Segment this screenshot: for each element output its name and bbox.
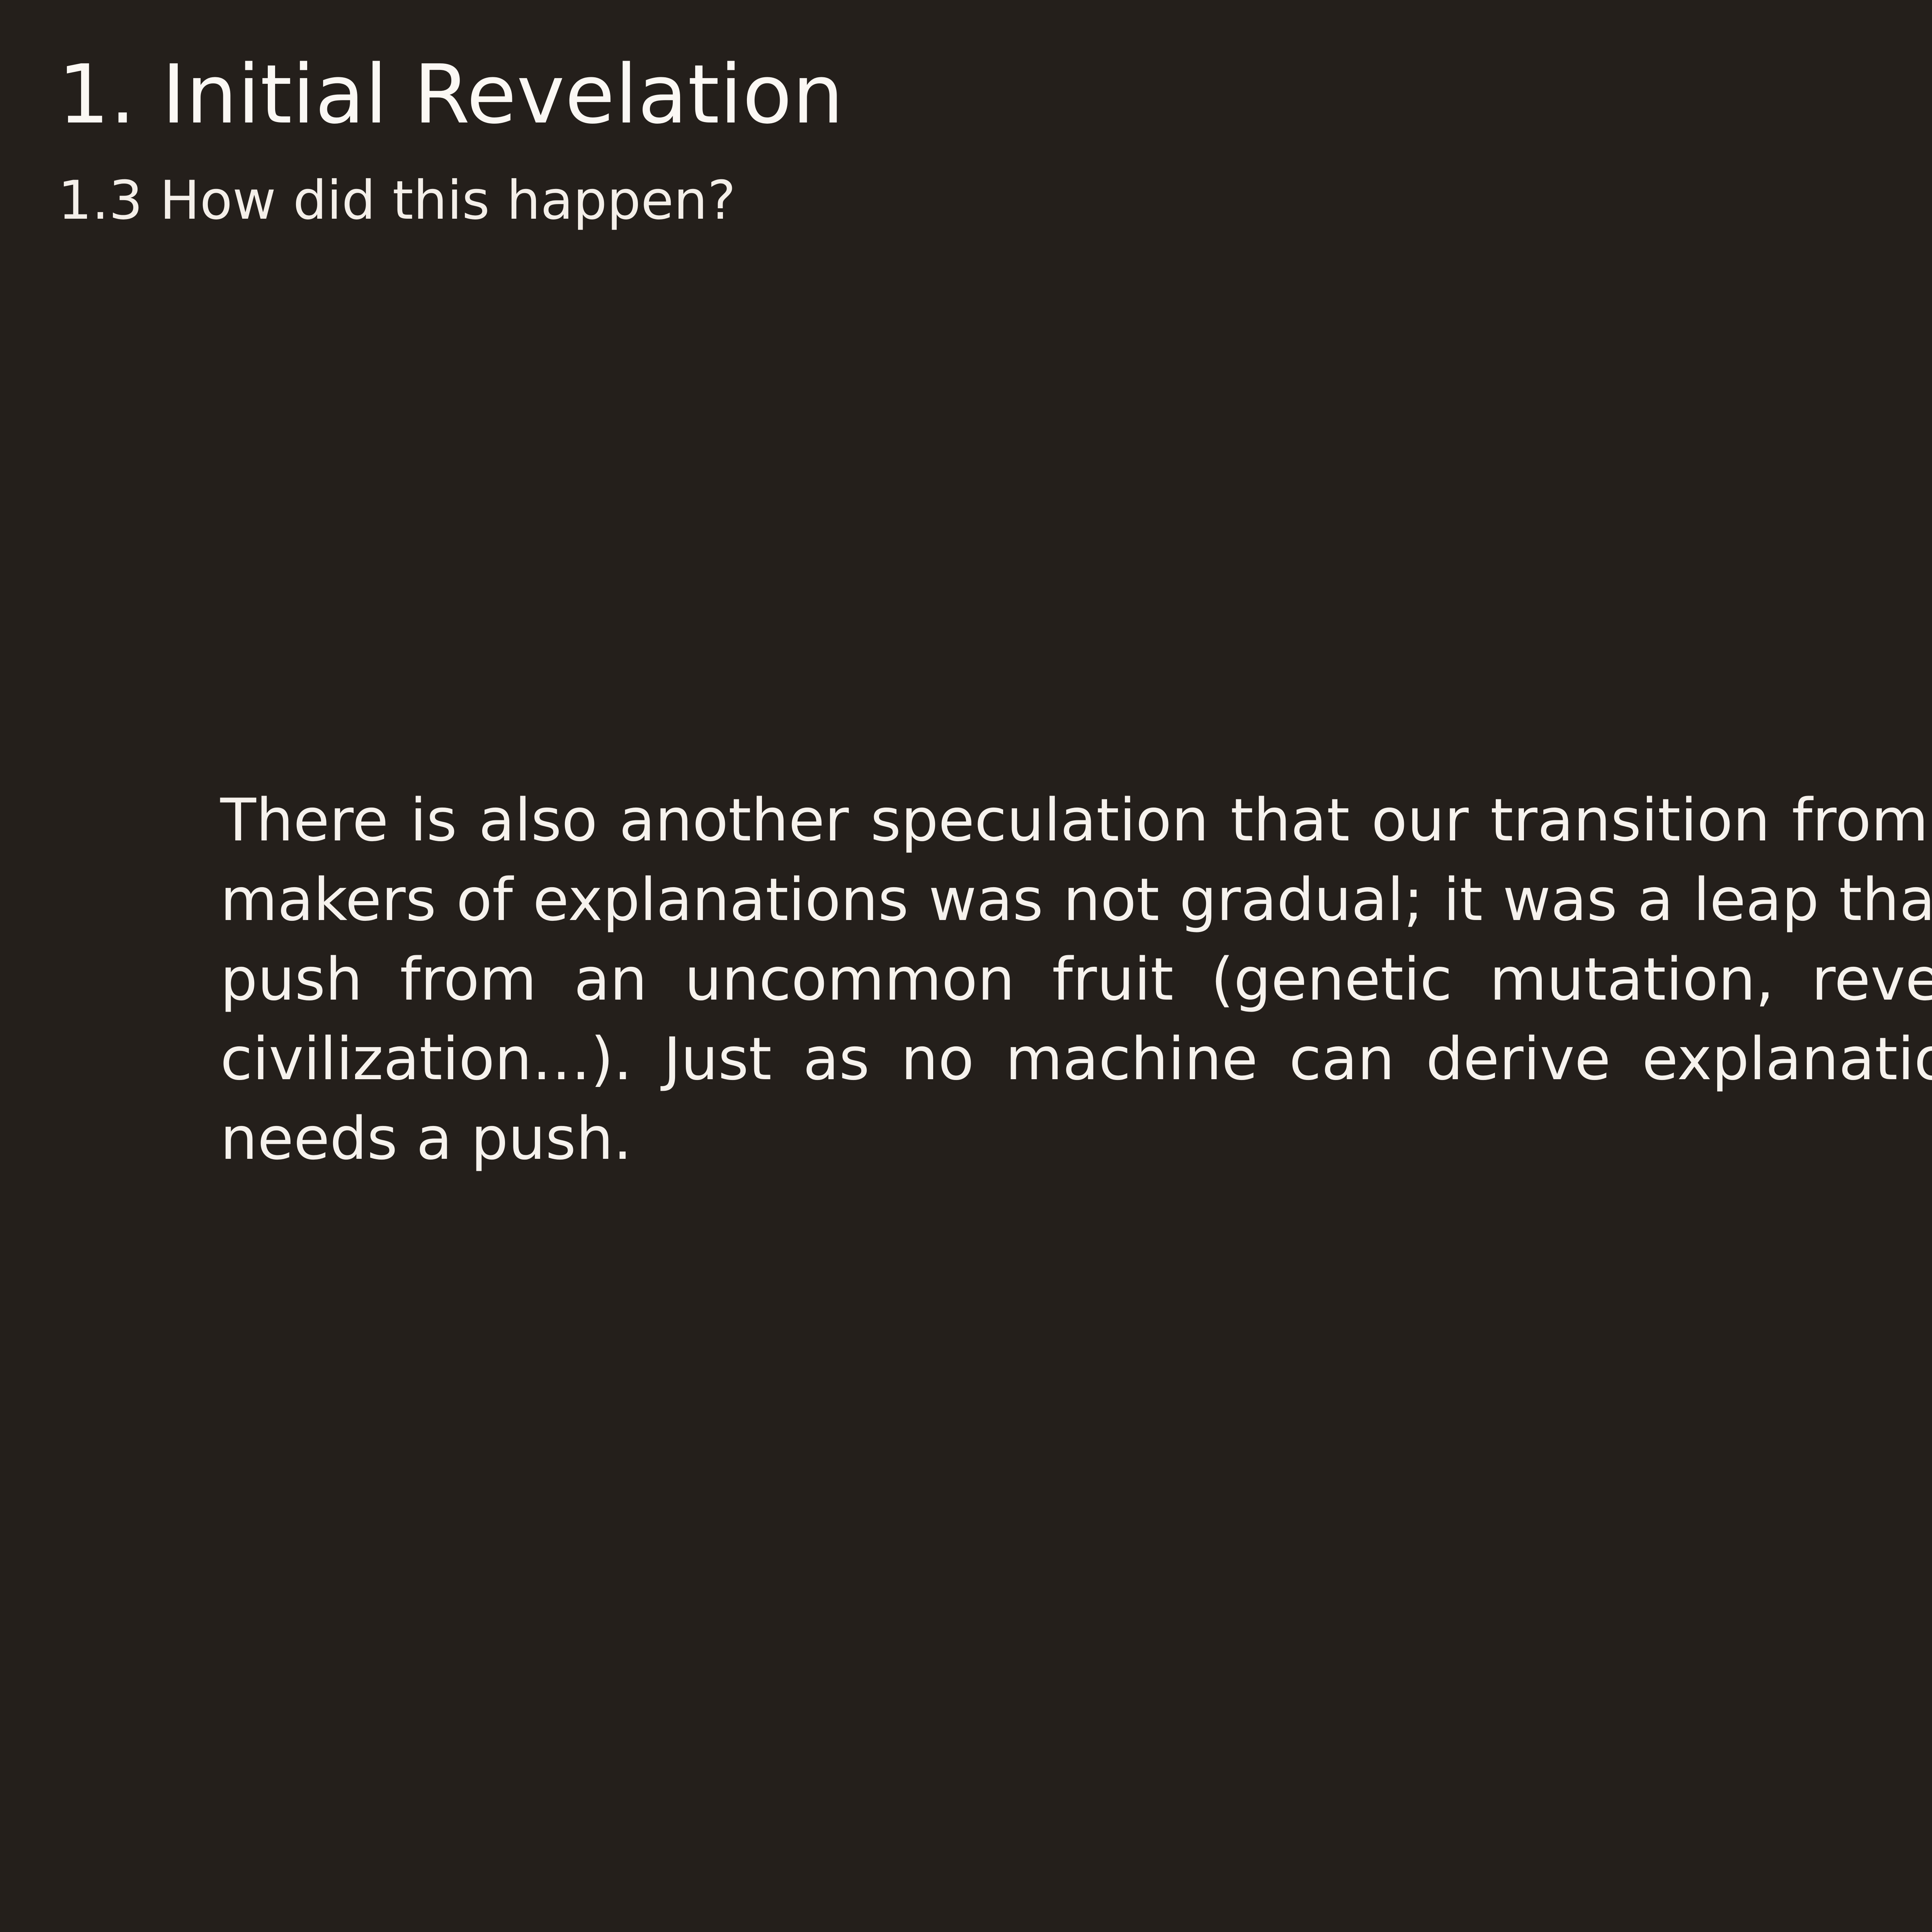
presentation-slide: 1. Initial Revelation 1.3 How did this h… (0, 0, 1932, 1932)
slide-body: There is also another speculation that o… (220, 781, 1932, 1179)
slide-header: 1. Initial Revelation 1.3 How did this h… (58, 54, 1932, 227)
body-paragraph: There is also another speculation that o… (220, 781, 1932, 1179)
page-subtitle: 1.3 How did this happen? (58, 174, 1932, 227)
page-title: 1. Initial Revelation (58, 54, 1932, 135)
